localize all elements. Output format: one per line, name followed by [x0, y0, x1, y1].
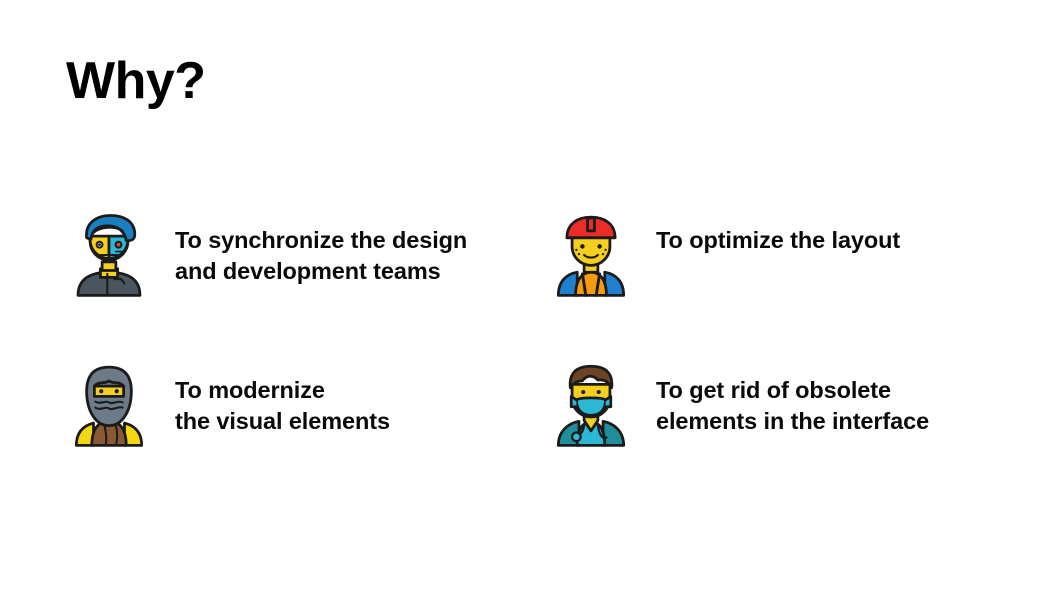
- older-person-with-beard-emoji: [66, 360, 152, 450]
- list-item-label: To optimize the layout: [656, 210, 900, 256]
- slide: Why?: [0, 0, 1050, 591]
- health-worker-with-mask-emoji: [548, 360, 634, 450]
- list-item-label: To synchronize the design and developmen…: [175, 210, 467, 288]
- reasons-grid: To synchronize the design and developmen…: [0, 0, 1050, 591]
- person-wearing-turban-emoji: [66, 210, 152, 300]
- list-item: To synchronize the design and developmen…: [66, 210, 467, 300]
- list-item-label: To modernize the visual elements: [175, 360, 390, 438]
- list-item-label: To get rid of obsolete elements in the i…: [656, 360, 929, 438]
- construction-worker-emoji: [548, 210, 634, 300]
- list-item: To optimize the layout: [548, 210, 900, 300]
- list-item: To modernize the visual elements: [66, 360, 390, 450]
- list-item: To get rid of obsolete elements in the i…: [548, 360, 929, 450]
